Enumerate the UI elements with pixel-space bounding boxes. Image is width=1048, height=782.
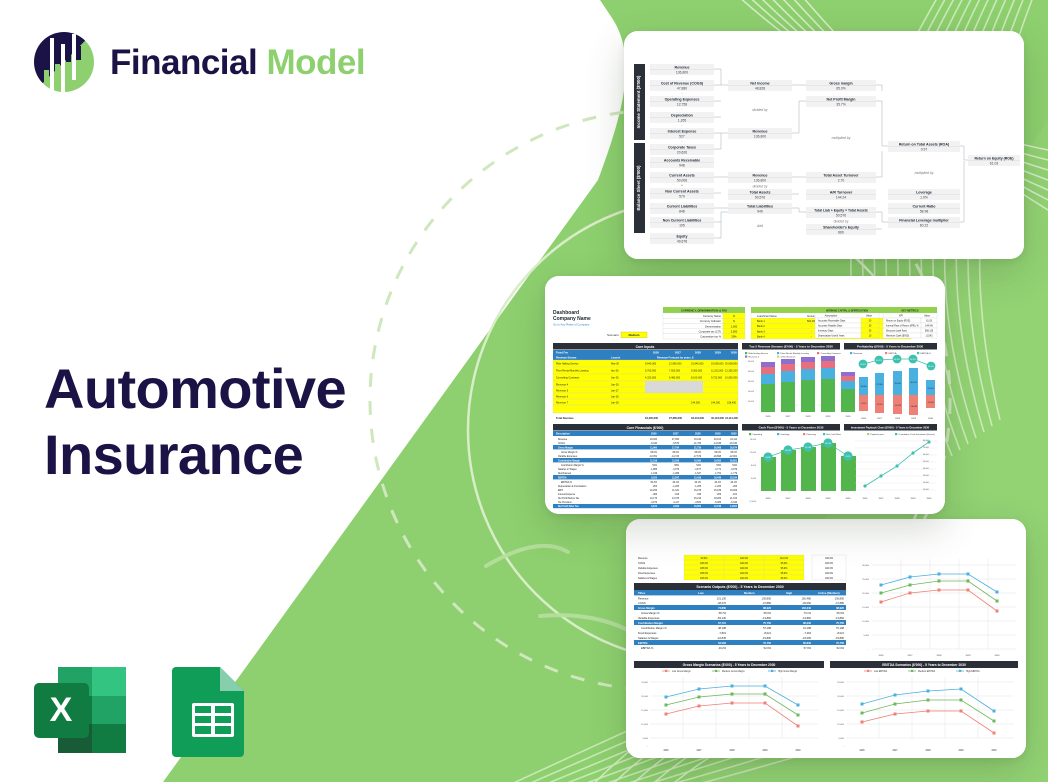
- svg-text:2026: 2026: [663, 750, 669, 752]
- svg-text:Currency Name: Currency Name: [703, 314, 722, 318]
- svg-text:-: -: [681, 76, 682, 80]
- svg-text:35.7%: 35.7%: [836, 103, 846, 107]
- svg-text:2,000: 2,000: [731, 330, 738, 334]
- svg-text:EBIT: EBIT: [558, 490, 564, 492]
- svg-text:50.3%: 50.3%: [650, 482, 657, 484]
- svg-text:40,104,000: 40,104,000: [711, 416, 725, 420]
- svg-text:-15,440: -15,440: [729, 443, 738, 445]
- svg-text:95.0%: 95.0%: [781, 577, 789, 580]
- svg-text:Bank 1: Bank 1: [757, 320, 765, 323]
- svg-text:2028: 2028: [729, 750, 735, 752]
- svg-text:Total Assets: Total Assets: [750, 191, 771, 195]
- svg-text:2030: 2030: [795, 750, 801, 752]
- svg-text:74,860: 74,860: [718, 606, 726, 610]
- svg-text:136,800: 136,800: [754, 135, 766, 139]
- svg-text:15,189: 15,189: [714, 490, 722, 492]
- svg-text:869: 869: [838, 231, 844, 235]
- google-sheets-icon[interactable]: [162, 663, 262, 757]
- svg-text:46.1%: 46.1%: [714, 482, 721, 484]
- svg-text:Consulting Contracts: Consulting Contracts: [556, 377, 580, 380]
- svg-text:26,068: 26,068: [714, 447, 722, 449]
- svg-text:18,400,000: 18,400,000: [645, 416, 659, 420]
- svg-text:Interest Expense: Interest Expense: [558, 493, 576, 496]
- svg-text:2027: 2027: [675, 351, 681, 355]
- svg-text:(2,000): (2,000): [750, 501, 757, 503]
- svg-text:Jan-26: Jan-26: [611, 395, 619, 398]
- svg-text:12,597: 12,597: [672, 477, 680, 479]
- svg-text:Core Financials ($'000): Core Financials ($'000): [627, 426, 664, 430]
- svg-text:Monthly: Monthly: [901, 320, 911, 323]
- svg-text:70,750: 70,750: [836, 641, 844, 645]
- svg-text:144,000: 144,000: [711, 401, 721, 404]
- brand-logo[interactable]: Financial Model: [32, 30, 365, 94]
- svg-text:144,000: 144,000: [691, 401, 701, 404]
- svg-text:Other Revenue: Other Revenue: [781, 356, 797, 359]
- svg-text:2029: 2029: [911, 418, 917, 420]
- svg-text:-418: -418: [674, 494, 679, 496]
- svg-text:57.0%: 57.0%: [804, 646, 812, 650]
- svg-text:CURRENCY, DENOMINATION & TAX: CURRENCY, DENOMINATION & TAX: [681, 308, 727, 312]
- svg-text:25,000: 25,000: [641, 682, 648, 684]
- svg-text:Description: Description: [556, 433, 570, 436]
- svg-text:21,739: 21,739: [694, 447, 702, 449]
- svg-text:20,000: 20,000: [862, 593, 869, 595]
- svg-text:105.0%: 105.0%: [700, 572, 709, 575]
- svg-text:Medium EBITDA: Medium EBITDA: [918, 670, 936, 673]
- svg-text:Revenue: Revenue: [753, 130, 768, 134]
- svg-text:136,800: 136,800: [762, 597, 772, 601]
- svg-text:70,750: 70,750: [763, 641, 771, 645]
- svg-text:EBITDA %: EBITDA %: [921, 352, 931, 355]
- svg-text:-20,898: -20,898: [713, 456, 722, 458]
- svg-text:-6,346: -6,346: [730, 502, 737, 504]
- svg-text:948: 948: [679, 164, 685, 168]
- svg-text:2028: 2028: [925, 750, 931, 752]
- svg-text:17,784: 17,784: [672, 446, 680, 449]
- dupont-analysis-sheet: Income Statement ($'000) Balance Sheet (…: [624, 31, 1024, 259]
- svg-text:Term / Months: Term / Months: [857, 315, 874, 318]
- svg-text:2028: 2028: [806, 416, 812, 418]
- svg-text:Medium: Medium: [744, 591, 755, 595]
- svg-text:2026: 2026: [766, 416, 772, 418]
- svg-text:5,000: 5,000: [643, 738, 649, 740]
- svg-text:40,000: 40,000: [923, 468, 929, 470]
- svg-text:20,000: 20,000: [641, 696, 648, 698]
- svg-text:70.1%: 70.1%: [804, 611, 812, 615]
- dupont-analysis-card[interactable]: Income Statement ($'000) Balance Sheet (…: [624, 31, 1024, 259]
- svg-text:88,920: 88,920: [836, 606, 844, 610]
- svg-text:High EBITDA: High EBITDA: [966, 670, 980, 673]
- svg-text:136,800: 136,800: [835, 597, 845, 601]
- svg-text:52%: 52%: [652, 465, 657, 467]
- svg-text:-14,726: -14,726: [671, 456, 680, 458]
- svg-text:-47,880: -47,880: [835, 601, 844, 605]
- svg-text:Bank 3: Bank 3: [757, 330, 765, 333]
- svg-text:2027: 2027: [786, 498, 792, 500]
- svg-text:Medium Gross Margin: Medium Gross Margin: [722, 670, 745, 673]
- svg-text:61.03: 61.03: [990, 162, 999, 166]
- svg-text:COGS: COGS: [558, 443, 565, 445]
- svg-text:2026: 2026: [653, 351, 659, 355]
- svg-text:102,340: 102,340: [802, 606, 812, 610]
- svg-text:Gross Margin: Gross Margin: [558, 447, 573, 449]
- svg-text:15,428: 15,428: [694, 476, 702, 479]
- svg-text:-: -: [681, 108, 682, 112]
- svg-text:2029: 2029: [826, 498, 832, 500]
- svg-text:46.1%: 46.1%: [694, 482, 701, 484]
- svg-text:-1,779: -1,779: [730, 473, 737, 475]
- svg-text:6,480,000: 6,480,000: [669, 377, 681, 380]
- svg-text:27,360: 27,360: [672, 439, 680, 441]
- svg-text:Operating: Operating: [753, 433, 763, 436]
- svg-text:Consulting Contracts: Consulting Contracts: [821, 352, 842, 355]
- svg-text:Variable Expenses: Variable Expenses: [558, 455, 578, 458]
- svg-text:65.0%: 65.0%: [764, 611, 772, 615]
- svg-text:2030: 2030: [846, 498, 852, 500]
- svg-text:136,800: 136,800: [676, 71, 688, 75]
- svg-text:-10,051: -10,051: [649, 456, 658, 458]
- svg-text:65.0%: 65.0%: [650, 452, 657, 454]
- svg-text:-22,901: -22,901: [729, 456, 738, 458]
- svg-text:-5,485: -5,485: [714, 502, 721, 504]
- svg-text:Jan-26: Jan-26: [837, 320, 845, 323]
- svg-text:15,000: 15,000: [837, 710, 844, 712]
- svg-text:-3,079: -3,079: [672, 469, 679, 471]
- svg-text:Revenue 4: Revenue 4: [749, 357, 760, 359]
- svg-text:2030: 2030: [927, 498, 933, 500]
- svg-text:Accounts Receivable: Accounts Receivable: [664, 159, 700, 163]
- svg-text:X: X: [50, 691, 73, 729]
- svg-text:Fleet Rental Monthly Leasing: Fleet Rental Monthly Leasing: [556, 370, 589, 373]
- svg-text:-45,060: -45,060: [802, 601, 811, 605]
- svg-text:95.0%: 95.0%: [781, 572, 789, 575]
- svg-text:Gross Margin %: Gross Margin %: [641, 611, 660, 615]
- svg-text:Titles: Titles: [638, 591, 646, 595]
- svg-text:100.0%: 100.0%: [740, 577, 749, 580]
- svg-text:18,400: 18,400: [650, 439, 658, 441]
- svg-text:DEBT ASSUMPTIONS: DEBT ASSUMPTIONS: [817, 308, 845, 312]
- svg-text:Investment Payback Chart ($'00: Investment Payback Chart ($'000) - 5 Yea…: [851, 426, 930, 430]
- svg-text:Core Inputs: Core Inputs: [636, 345, 655, 349]
- svg-text:EBITDA: EBITDA: [558, 476, 567, 479]
- svg-text:19,309: 19,309: [730, 490, 738, 492]
- svg-text:5,760,000: 5,760,000: [645, 370, 657, 373]
- svg-text:18,282: 18,282: [714, 498, 722, 500]
- svg-text:40,104: 40,104: [910, 382, 917, 384]
- svg-text:50,006: 50,006: [677, 179, 687, 183]
- svg-text:44,114: 44,114: [730, 439, 738, 441]
- svg-text:Loan/Grant Name: Loan/Grant Name: [757, 315, 777, 318]
- svg-text:-17,679: -17,679: [693, 456, 702, 458]
- svg-text:16,000: 16,000: [750, 439, 757, 441]
- svg-text:2028: 2028: [895, 498, 901, 500]
- svg-text:20,908,800: 20,908,800: [725, 363, 738, 366]
- svg-text:-7,801: -7,801: [719, 631, 727, 635]
- svg-text:50.3%: 50.3%: [860, 364, 866, 366]
- svg-text:Jan-28: Jan-28: [611, 401, 619, 404]
- svg-text:8,100,000: 8,100,000: [691, 377, 703, 380]
- svg-text:Total Asset Turnover: Total Asset Turnover: [823, 174, 859, 178]
- svg-text:8,488: 8,488: [765, 457, 771, 459]
- svg-text:100.0%: 100.0%: [740, 557, 749, 560]
- svg-text:Denomination: Denomination: [705, 324, 722, 328]
- svg-text:Net Income: Net Income: [750, 82, 769, 86]
- svg-text:2.70: 2.70: [838, 179, 845, 183]
- brand-logo-text: Financial Model: [110, 45, 365, 80]
- svg-text:12,000: 12,000: [750, 452, 757, 454]
- svg-text:Jan-26: Jan-26: [611, 383, 619, 386]
- svg-text:30,000: 30,000: [748, 381, 755, 383]
- svg-text:Go to Key Rates of Company: Go to Key Rates of Company: [553, 323, 590, 327]
- svg-text:Payback year: Payback year: [871, 433, 885, 436]
- svg-text:Scenario: Scenario: [607, 333, 619, 337]
- svg-text:11,518: 11,518: [650, 460, 658, 462]
- svg-text:Apr-26: Apr-26: [611, 370, 619, 373]
- svg-text:2027: 2027: [892, 750, 898, 752]
- svg-text:4,000: 4,000: [751, 478, 757, 480]
- svg-text:33,444,000: 33,444,000: [691, 416, 705, 420]
- svg-text:8.0%: 8.0%: [887, 320, 893, 323]
- svg-text:EBITDA %: EBITDA %: [641, 646, 654, 650]
- svg-text:10,000: 10,000: [748, 401, 755, 403]
- financial-dashboard-card[interactable]: Dashboard Company Name Go to Key Rates o…: [545, 276, 945, 514]
- svg-text:Operating Expenses: Operating Expenses: [665, 98, 700, 102]
- svg-text:-15,428: -15,428: [894, 405, 902, 407]
- excel-icon[interactable]: X: [30, 663, 130, 757]
- svg-text:2026: 2026: [861, 418, 867, 420]
- svg-text:Investing: Investing: [781, 433, 791, 436]
- svg-text:-16,845: -16,845: [717, 636, 726, 640]
- svg-text:Revenue: Revenue: [675, 66, 690, 70]
- svg-text:2028: 2028: [806, 498, 812, 500]
- svg-text:18,448: 18,448: [714, 476, 722, 479]
- svg-text:Cumulative Cash Investment (lo: Cumulative Cash Investment (losses): [899, 433, 935, 436]
- poster-canvas: Financial Model Automotive Insurance: [0, 0, 1048, 782]
- svg-text:65.0%: 65.0%: [694, 452, 701, 454]
- left-content-column: Financial Model Automotive Insurance: [0, 0, 470, 782]
- svg-text:5,000: 5,000: [839, 738, 845, 740]
- svg-text:13,058: 13,058: [672, 460, 680, 462]
- svg-text:105.0%: 105.0%: [700, 577, 709, 580]
- svg-text:-12,597: -12,597: [876, 404, 884, 406]
- svg-text:570: 570: [679, 195, 685, 199]
- svg-text:15,840,000: 15,840,000: [691, 363, 704, 366]
- svg-text:-15,095: -15,095: [802, 636, 811, 640]
- svg-text:Current Liabilities: Current Liabilities: [667, 205, 698, 209]
- svg-text:2029: 2029: [958, 750, 964, 752]
- svg-text:2030: 2030: [995, 655, 1001, 657]
- svg-text:Depreciation: Depreciation: [671, 114, 693, 118]
- svg-text:2029: 2029: [911, 498, 917, 500]
- svg-text:Company Name: Company Name: [553, 316, 591, 322]
- svg-text:-15,890: -15,890: [835, 636, 844, 640]
- svg-text:20,626: 20,626: [677, 151, 687, 155]
- svg-text:-47,880: -47,880: [762, 601, 771, 605]
- svg-text:EBITDA %: EBITDA %: [561, 481, 572, 484]
- svg-text:57,198: 57,198: [836, 626, 844, 630]
- svg-text:60.22: 60.22: [920, 224, 929, 228]
- svg-text:Contribution Margin %: Contribution Margin %: [641, 626, 667, 630]
- svg-text:1,000: 1,000: [731, 324, 738, 328]
- svg-text:-1,265: -1,265: [714, 486, 721, 488]
- svg-text:100.0%: 100.0%: [740, 572, 749, 575]
- svg-text:-7,463: -7,463: [804, 631, 812, 635]
- svg-text:65.0%: 65.0%: [672, 452, 679, 454]
- svg-text:12,758: 12,758: [677, 103, 687, 107]
- svg-text:9,252: 9,252: [651, 477, 657, 479]
- svg-text:11,960: 11,960: [650, 447, 658, 449]
- svg-text:Corporate tax (CIT): Corporate tax (CIT): [699, 330, 721, 334]
- svg-text:10,652: 10,652: [694, 506, 702, 508]
- svg-text:2026: 2026: [651, 433, 657, 436]
- svg-text:-1,751: -1,751: [714, 473, 721, 475]
- svg-text:-486: -486: [652, 494, 657, 496]
- svg-text:100.0%: 100.0%: [825, 567, 834, 570]
- svg-text:-1,885: -1,885: [650, 469, 657, 471]
- svg-text:2026: 2026: [863, 498, 869, 500]
- svg-text:2029: 2029: [826, 416, 832, 418]
- svg-text:9,391: 9,391: [845, 456, 851, 458]
- svg-text:Low: Low: [698, 591, 704, 595]
- svg-text:10,692,000: 10,692,000: [725, 377, 738, 380]
- svg-text:100.0%: 100.0%: [825, 557, 834, 560]
- svg-text:Total Liab + Equity = Total As: Total Liab + Equity = Total Assets: [814, 209, 868, 213]
- svg-text:58.7%: 58.7%: [719, 611, 727, 615]
- svg-text:13,725: 13,725: [672, 498, 680, 500]
- svg-text:Gross Margin: Gross Margin: [638, 606, 655, 610]
- svg-text:2029: 2029: [966, 655, 972, 657]
- svg-text:Total Revenue: Total Revenue: [556, 416, 574, 420]
- scenario-analysis-card[interactable]: RevenueCOGSVariable Expenses Fixed Expen…: [626, 519, 1026, 758]
- svg-text:158,400: 158,400: [727, 401, 737, 404]
- svg-text:EBITDA: EBITDA: [638, 641, 648, 645]
- page-title-line-1: Automotive: [44, 356, 444, 422]
- svg-text:-15,890: -15,890: [762, 636, 771, 640]
- svg-text:100.0%: 100.0%: [825, 572, 834, 575]
- svg-text:Bank 4: Bank 4: [757, 336, 765, 339]
- svg-text:131,130: 131,130: [717, 597, 727, 601]
- svg-text:Revenue 6: Revenue 6: [556, 395, 569, 398]
- svg-text:2030: 2030: [731, 351, 737, 355]
- svg-text:Financial Leverage multiplier: Financial Leverage multiplier: [899, 219, 949, 223]
- svg-text:Fleet Rental Monthly Leasing: Fleet Rental Monthly Leasing: [781, 352, 810, 355]
- svg-text:Gross Margin %: Gross Margin %: [561, 451, 577, 454]
- supported-apps: X: [30, 663, 262, 757]
- svg-text:2030: 2030: [846, 416, 852, 418]
- svg-text:95.0%: 95.0%: [781, 562, 789, 565]
- svg-text:1,265: 1,265: [678, 119, 687, 123]
- svg-text:-4,564: -4,564: [694, 502, 701, 504]
- svg-text:61,198: 61,198: [803, 626, 811, 630]
- svg-text:105.0%: 105.0%: [700, 567, 709, 570]
- svg-text:136,800: 136,800: [754, 179, 766, 183]
- svg-text:15,216: 15,216: [694, 498, 702, 500]
- svg-text:Rent/Interest: Rent/Interest: [558, 472, 572, 475]
- svg-text:2029: 2029: [762, 750, 768, 752]
- svg-text:2030: 2030: [731, 433, 737, 436]
- svg-text:-18,448: -18,448: [910, 406, 918, 408]
- svg-text:12,355,200: 12,355,200: [725, 370, 738, 373]
- svg-text:Income Statement ($'000): Income Statement ($'000): [636, 75, 641, 128]
- svg-text:-8,021: -8,021: [764, 631, 772, 635]
- svg-text:Gross margin: Gross margin: [829, 82, 852, 86]
- svg-text:Depreciation & Amortisation: Depreciation & Amortisation: [558, 485, 587, 488]
- svg-text:10,812: 10,812: [785, 450, 792, 452]
- svg-text:46.1%: 46.1%: [876, 360, 882, 362]
- svg-text:Revenue: Revenue: [854, 353, 864, 355]
- page-title: Automotive Insurance: [44, 356, 444, 488]
- svg-text:100.0%: 100.0%: [740, 567, 749, 570]
- svg-text:-6,440: -6,440: [650, 443, 657, 445]
- svg-text:-269: -269: [716, 494, 721, 496]
- svg-text:Current Ratio: Current Ratio: [913, 205, 937, 209]
- svg-text:-3,072: -3,072: [650, 502, 657, 504]
- svg-text:19,002: 19,002: [714, 460, 722, 462]
- svg-text:COGS: COGS: [638, 601, 646, 605]
- svg-text:54%: 54%: [696, 465, 701, 467]
- svg-text:70,000: 70,000: [923, 447, 929, 449]
- svg-text:20,000: 20,000: [748, 391, 755, 393]
- svg-text:Scenario Outputs ($'000) - 5 Y: Scenario Outputs ($'000) - 5 Years to De…: [696, 585, 783, 589]
- svg-text:20,000: 20,000: [837, 696, 844, 698]
- svg-text:75,750: 75,750: [763, 621, 771, 625]
- svg-text:52,083: 52,083: [718, 641, 726, 645]
- svg-text:65.0%: 65.0%: [730, 452, 737, 454]
- svg-text:16,060: 16,060: [694, 460, 702, 462]
- svg-text:Net Profit After Tax: Net Profit After Tax: [558, 505, 579, 508]
- svg-text:Medium: Medium: [629, 333, 640, 337]
- svg-text:54%: 54%: [732, 465, 737, 467]
- svg-text:9,720,000: 9,720,000: [711, 377, 723, 380]
- svg-text:22,100: 22,100: [927, 388, 934, 390]
- svg-text:20,951: 20,951: [730, 460, 738, 462]
- svg-text:2027: 2027: [908, 655, 914, 657]
- svg-text:10,252: 10,252: [650, 490, 658, 492]
- svg-text:90.0%: 90.0%: [701, 557, 709, 560]
- scenario-analysis-sheet: RevenueCOGSVariable Expenses Fixed Expen…: [626, 519, 1026, 758]
- svg-text:2027: 2027: [786, 416, 792, 418]
- svg-text:25,000: 25,000: [862, 579, 869, 581]
- svg-text:105: 105: [679, 224, 685, 228]
- svg-text:2026: 2026: [879, 655, 885, 657]
- svg-text:-10,200: -10,200: [927, 402, 935, 404]
- svg-text:46.1%: 46.1%: [928, 366, 934, 368]
- svg-text:Variable Expenses: Variable Expenses: [638, 616, 660, 620]
- svg-text:50,000: 50,000: [748, 361, 755, 363]
- svg-text:Revenue: Revenue: [638, 597, 649, 601]
- svg-text:-8,021: -8,021: [837, 631, 845, 635]
- svg-text:14,804: 14,804: [730, 505, 738, 508]
- svg-text:848: 848: [679, 210, 685, 214]
- svg-text:Mar-26: Mar-26: [611, 363, 620, 366]
- svg-text:30%: 30%: [731, 335, 737, 339]
- svg-text:-1,289: -1,289: [672, 473, 679, 475]
- page-title-line-2: Insurance: [44, 422, 444, 488]
- svg-text:EBITDA Scenarios ($'000) - 5 Y: EBITDA Scenarios ($'000) - 5 Years to De…: [882, 663, 966, 667]
- svg-text:30,000: 30,000: [862, 565, 869, 567]
- svg-text:48,198: 48,198: [718, 626, 726, 630]
- svg-text:High: High: [786, 591, 793, 595]
- svg-text:-253: -253: [652, 486, 657, 488]
- svg-text:7,920,000: 7,920,000: [669, 370, 681, 373]
- svg-text:65.0%: 65.0%: [836, 87, 846, 91]
- svg-text:110.0%: 110.0%: [780, 557, 789, 560]
- svg-text:527: 527: [679, 135, 685, 139]
- svg-text:65.0%: 65.0%: [837, 611, 845, 615]
- svg-text:Corporate Taxes: Corporate Taxes: [668, 146, 696, 150]
- svg-text:46.1%: 46.1%: [672, 482, 679, 484]
- svg-text:-3,979: -3,979: [730, 469, 737, 471]
